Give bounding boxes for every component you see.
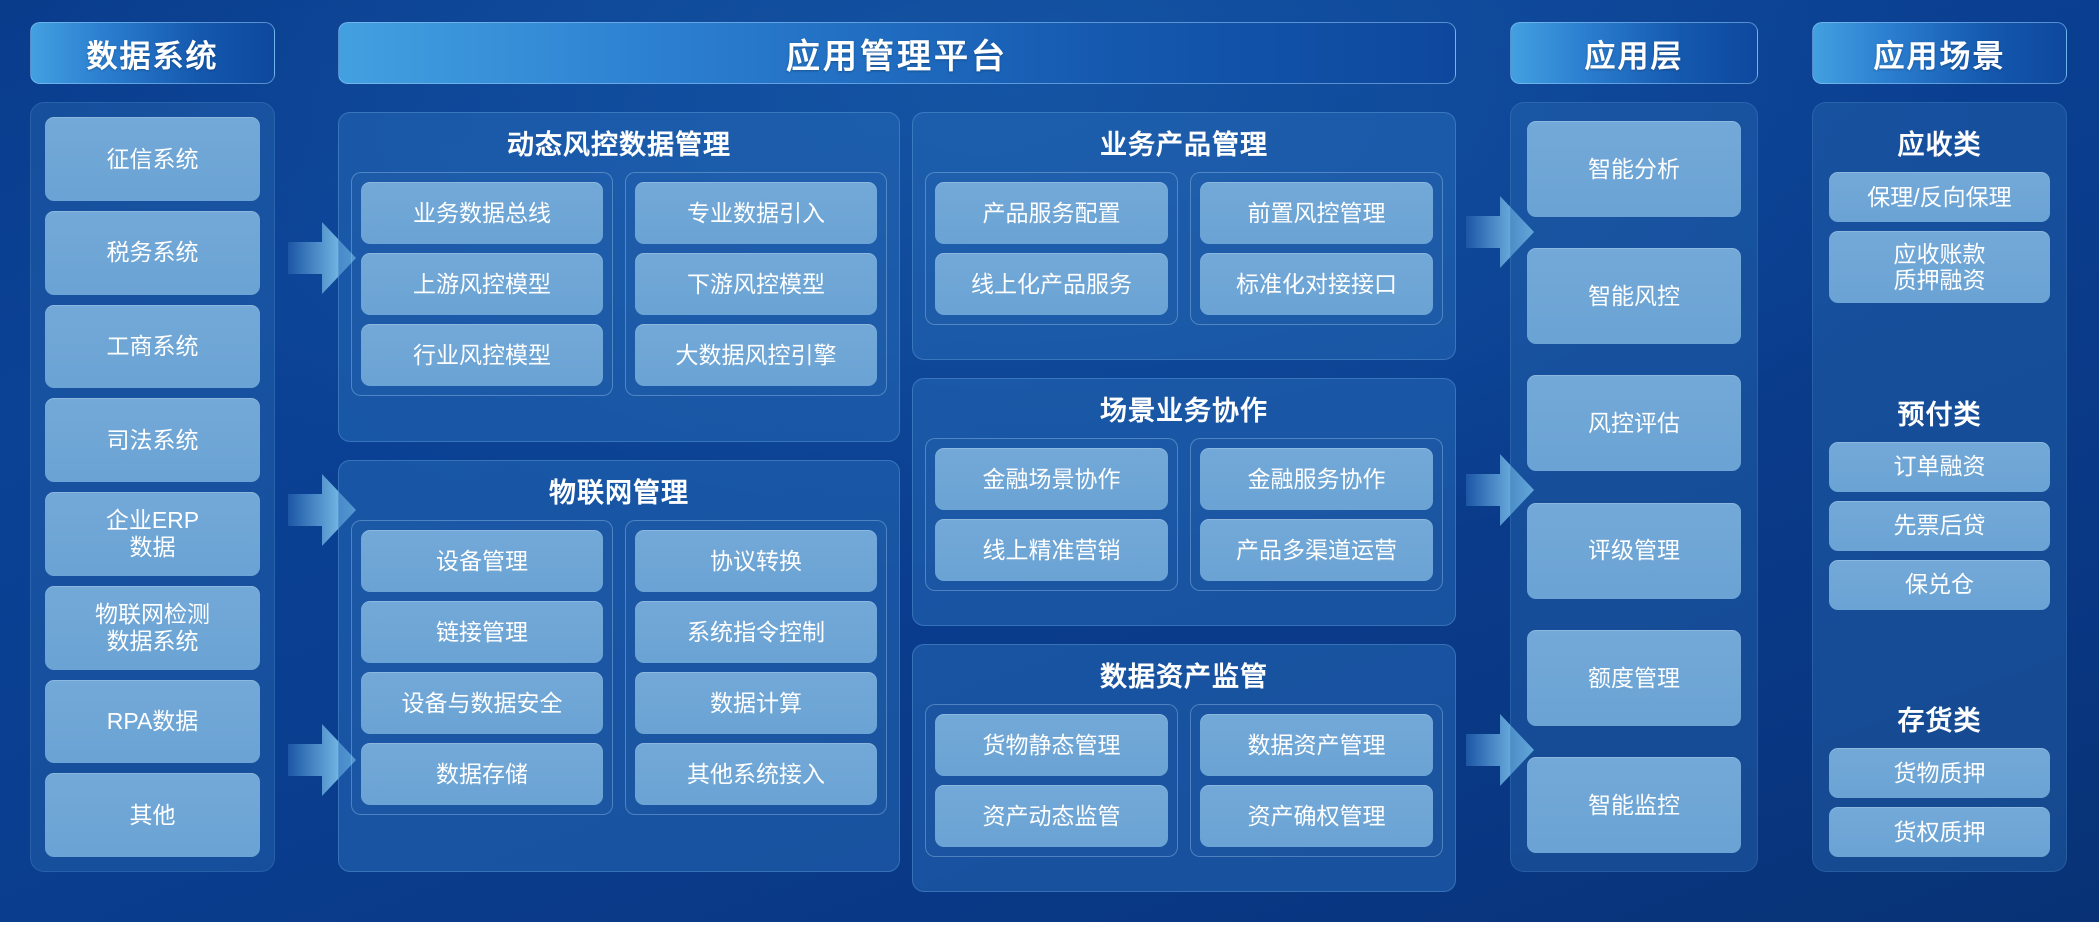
tile-g1-l0[interactable]: 设备管理 <box>361 530 603 592</box>
tile-g1-r0[interactable]: 协议转换 <box>635 530 877 592</box>
group-dynamic-risk-data-management: 动态风控数据管理 业务数据总线 上游风控模型 行业风控模型 专业数据引入 下游风… <box>338 112 900 442</box>
tile-g0-l1[interactable]: 上游风控模型 <box>361 253 603 315</box>
subgroup-3-left: 金融场景协作 线上精准营销 <box>925 438 1178 591</box>
tile-g1-l3[interactable]: 数据存储 <box>361 743 603 805</box>
group-title-3: 场景业务协作 <box>925 389 1443 428</box>
subgroup-3-right: 金融服务协作 产品多渠道运营 <box>1190 438 1443 591</box>
tile-data-system-0[interactable]: 征信系统 <box>45 117 260 201</box>
tile-g0-l0[interactable]: 业务数据总线 <box>361 182 603 244</box>
tile-app-layer-0[interactable]: 智能分析 <box>1527 121 1741 217</box>
scenario-section-inventory: 存货类 货物质押 货权质押 <box>1829 693 2050 857</box>
column-application-layer: 应用层 智能分析 智能风控 风控评估 评级管理 额度管理 智能监控 <box>1510 22 1758 872</box>
platform-right-subcolumn: 业务产品管理 产品服务配置 线上化产品服务 前置风控管理 标准化对接接口 场景业… <box>912 112 1456 892</box>
tile-sc1-0[interactable]: 订单融资 <box>1829 442 2050 492</box>
column-platform: 应用管理平台 <box>338 22 1456 84</box>
tile-g2-r1[interactable]: 标准化对接接口 <box>1200 253 1433 315</box>
scenario-title-2: 存货类 <box>1829 699 2050 738</box>
tile-g1-l1[interactable]: 链接管理 <box>361 601 603 663</box>
tile-g2-r0[interactable]: 前置风控管理 <box>1200 182 1433 244</box>
scenario-title-1: 预付类 <box>1829 393 2050 432</box>
tile-sc1-2[interactable]: 保兑仓 <box>1829 560 2050 610</box>
tile-sc2-0[interactable]: 货物质押 <box>1829 748 2050 798</box>
group-business-product-management: 业务产品管理 产品服务配置 线上化产品服务 前置风控管理 标准化对接接口 <box>912 112 1456 360</box>
tile-g4-r1[interactable]: 资产确权管理 <box>1200 785 1433 847</box>
subgroup-4-left: 货物静态管理 资产动态监管 <box>925 704 1178 857</box>
tile-g3-l0[interactable]: 金融场景协作 <box>935 448 1168 510</box>
subgroup-0-right: 专业数据引入 下游风控模型 大数据风控引擎 <box>625 172 887 396</box>
tile-g3-r0[interactable]: 金融服务协作 <box>1200 448 1433 510</box>
tile-data-system-1[interactable]: 税务系统 <box>45 211 260 295</box>
platform-left-subcolumn: 动态风控数据管理 业务数据总线 上游风控模型 行业风控模型 专业数据引入 下游风… <box>338 112 900 872</box>
group-title-1: 物联网管理 <box>351 471 887 510</box>
tile-app-layer-5[interactable]: 智能监控 <box>1527 757 1741 853</box>
tile-app-layer-3[interactable]: 评级管理 <box>1527 503 1741 599</box>
tile-sc0-0[interactable]: 保理/反向保理 <box>1829 172 2050 222</box>
tile-g3-r1[interactable]: 产品多渠道运营 <box>1200 519 1433 581</box>
subgroup-1-right: 协议转换 系统指令控制 数据计算 其他系统接入 <box>625 520 887 815</box>
group-data-asset-supervision: 数据资产监管 货物静态管理 资产动态监管 数据资产管理 资产确权管理 <box>912 644 1456 892</box>
subgroup-2-left: 产品服务配置 线上化产品服务 <box>925 172 1178 325</box>
tile-sc2-1[interactable]: 货权质押 <box>1829 807 2050 857</box>
tile-g0-r1[interactable]: 下游风控模型 <box>635 253 877 315</box>
diagram-canvas: 数据系统 征信系统 税务系统 工商系统 司法系统 企业ERP数据 物联网检测数据… <box>0 0 2099 950</box>
tile-g0-r0[interactable]: 专业数据引入 <box>635 182 877 244</box>
header-application-layer[interactable]: 应用层 <box>1510 22 1758 84</box>
scenario-section-receivables: 应收类 保理/反向保理 应收账款质押融资 <box>1829 117 2050 303</box>
subgroup-1-left: 设备管理 链接管理 设备与数据安全 数据存储 <box>351 520 613 815</box>
scenario-section-prepaid: 预付类 订单融资 先票后贷 保兑仓 <box>1829 387 2050 610</box>
scenario-title-0: 应收类 <box>1829 123 2050 162</box>
tile-data-system-5[interactable]: 物联网检测数据系统 <box>45 586 260 670</box>
panel-application-scenarios: 应收类 保理/反向保理 应收账款质押融资 预付类 订单融资 先票后贷 保兑仓 存… <box>1812 102 2067 872</box>
tile-g2-l0[interactable]: 产品服务配置 <box>935 182 1168 244</box>
subgroup-4-right: 数据资产管理 资产确权管理 <box>1190 704 1443 857</box>
tile-g2-l1[interactable]: 线上化产品服务 <box>935 253 1168 315</box>
tile-data-system-4[interactable]: 企业ERP数据 <box>45 492 260 576</box>
tile-data-system-6[interactable]: RPA数据 <box>45 680 260 764</box>
group-title-0: 动态风控数据管理 <box>351 123 887 162</box>
tile-g4-l1[interactable]: 资产动态监管 <box>935 785 1168 847</box>
tile-g0-l2[interactable]: 行业风控模型 <box>361 324 603 386</box>
tile-g4-r0[interactable]: 数据资产管理 <box>1200 714 1433 776</box>
panel-application-layer: 智能分析 智能风控 风控评估 评级管理 额度管理 智能监控 <box>1510 102 1758 872</box>
tile-app-layer-2[interactable]: 风控评估 <box>1527 375 1741 471</box>
tile-g1-r3[interactable]: 其他系统接入 <box>635 743 877 805</box>
column-data-systems: 数据系统 征信系统 税务系统 工商系统 司法系统 企业ERP数据 物联网检测数据… <box>30 22 275 872</box>
header-platform[interactable]: 应用管理平台 <box>338 22 1456 84</box>
tile-data-system-3[interactable]: 司法系统 <box>45 398 260 482</box>
tile-g0-r2[interactable]: 大数据风控引擎 <box>635 324 877 386</box>
tile-g1-r1[interactable]: 系统指令控制 <box>635 601 877 663</box>
subgroup-2-right: 前置风控管理 标准化对接接口 <box>1190 172 1443 325</box>
group-iot-management: 物联网管理 设备管理 链接管理 设备与数据安全 数据存储 协议转换 系统指令控制… <box>338 460 900 872</box>
group-title-4: 数据资产监管 <box>925 655 1443 694</box>
group-title-2: 业务产品管理 <box>925 123 1443 162</box>
tile-g1-r2[interactable]: 数据计算 <box>635 672 877 734</box>
tile-app-layer-1[interactable]: 智能风控 <box>1527 248 1741 344</box>
tile-sc1-1[interactable]: 先票后贷 <box>1829 501 2050 551</box>
tile-g4-l0[interactable]: 货物静态管理 <box>935 714 1168 776</box>
group-scenario-business-collaboration: 场景业务协作 金融场景协作 线上精准营销 金融服务协作 产品多渠道运营 <box>912 378 1456 626</box>
tile-data-system-7[interactable]: 其他 <box>45 773 260 857</box>
tile-g1-l2[interactable]: 设备与数据安全 <box>361 672 603 734</box>
panel-data-systems: 征信系统 税务系统 工商系统 司法系统 企业ERP数据 物联网检测数据系统 RP… <box>30 102 275 872</box>
tile-app-layer-4[interactable]: 额度管理 <box>1527 630 1741 726</box>
header-application-scenarios[interactable]: 应用场景 <box>1812 22 2067 84</box>
tile-sc0-1[interactable]: 应收账款质押融资 <box>1829 231 2050 303</box>
tile-data-system-2[interactable]: 工商系统 <box>45 305 260 389</box>
header-data-systems[interactable]: 数据系统 <box>30 22 275 84</box>
subgroup-0-left: 业务数据总线 上游风控模型 行业风控模型 <box>351 172 613 396</box>
tile-g3-l1[interactable]: 线上精准营销 <box>935 519 1168 581</box>
column-application-scenarios: 应用场景 应收类 保理/反向保理 应收账款质押融资 预付类 订单融资 先票后贷 … <box>1812 22 2067 872</box>
